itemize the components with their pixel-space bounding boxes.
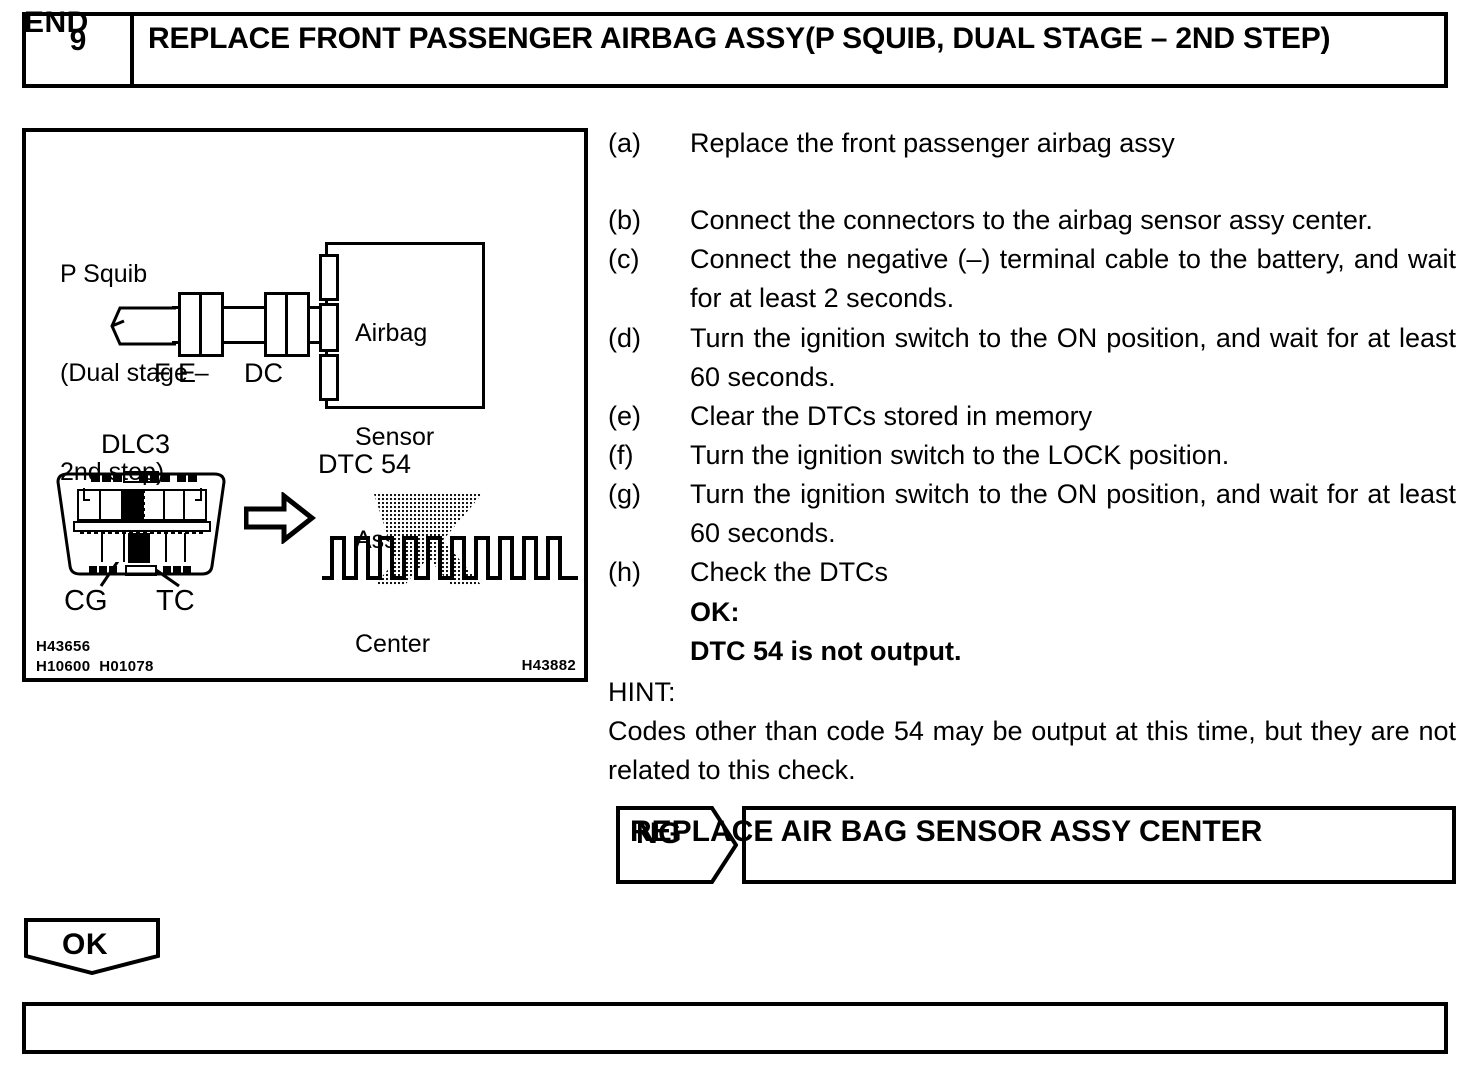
instruction-text-e: Clear the DTCs stored in memory xyxy=(690,397,1456,436)
instruction-text-c: Connect the negative (–) terminal cable … xyxy=(690,240,1456,318)
instruction-label-b: (b) xyxy=(608,201,690,240)
result-ok-condition: DTC 54 is not output. xyxy=(690,632,1456,671)
sensor-terminal-upper xyxy=(319,254,339,301)
result-ok-heading: OK: xyxy=(690,593,1456,632)
figure-code-left-2: H10600 H01078 xyxy=(36,658,154,675)
figure-code-right: H43882 xyxy=(522,657,576,674)
wire-segment xyxy=(222,306,270,309)
instruction-text-a: Replace the front passenger airbag assy xyxy=(690,124,1456,163)
hint-block: HINT: Codes other than code 54 may be ou… xyxy=(608,673,1456,790)
sensor-terminal-middle xyxy=(319,303,339,352)
instruction-label-e: (e) xyxy=(608,397,690,436)
dtc-54-waveform-icon xyxy=(322,482,578,642)
connector-fe-label: F E xyxy=(154,356,196,392)
end-block xyxy=(22,1002,1448,1054)
instruction-list: (a) Replace the front passenger airbag a… xyxy=(608,124,1456,790)
connector-dc-label: DC xyxy=(244,356,283,392)
instruction-item-b: (b) Connect the connectors to the airbag… xyxy=(608,201,1456,240)
hint-title: HINT: xyxy=(608,673,1456,712)
connector-dc-divider xyxy=(285,292,288,357)
step-title-cell: REPLACE FRONT PASSENGER AIRBAG ASSY(P SQ… xyxy=(134,16,1444,84)
instruction-text-d: Turn the ignition switch to the ON posit… xyxy=(690,319,1456,397)
instruction-item-g: (g) Turn the ignition switch to the ON p… xyxy=(608,475,1456,553)
end-label: END xyxy=(24,6,89,40)
dlc3-pin-tc-label: TC xyxy=(156,582,195,620)
instruction-spacer xyxy=(608,163,1456,201)
instruction-text-b: Connect the connectors to the airbag sen… xyxy=(690,201,1456,240)
right-arrow-icon xyxy=(244,492,316,544)
instruction-label-a: (a) xyxy=(608,124,690,163)
ok-tag-label: OK xyxy=(62,928,108,962)
figure-code-left-1: H43656 xyxy=(36,638,90,655)
instruction-text-g: Turn the ignition switch to the ON posit… xyxy=(690,475,1456,553)
ng-branch: NG REPLACE AIR BAG SENSOR ASSY CENTER xyxy=(616,806,1456,884)
instruction-item-e: (e) Clear the DTCs stored in memory xyxy=(608,397,1456,436)
dtc-54-label: DTC 54 xyxy=(318,447,411,483)
result-ok-heading-row: OK: xyxy=(608,593,1456,632)
squib-terminator-icon xyxy=(110,304,180,350)
instruction-label-c: (c) xyxy=(608,240,690,279)
step-header: 9 REPLACE FRONT PASSENGER AIRBAG ASSY(P … xyxy=(22,12,1448,88)
sensor-label-line-1: Airbag xyxy=(355,316,434,351)
instruction-item-c: (c) Connect the negative (–) terminal ca… xyxy=(608,240,1456,318)
dlc3-pin-cg-label: CG xyxy=(64,582,108,620)
instruction-label-d: (d) xyxy=(608,319,690,358)
instruction-text-h: Check the DTCs xyxy=(690,553,1456,592)
instruction-item-h: (h) Check the DTCs xyxy=(608,553,1456,592)
step-title: REPLACE FRONT PASSENGER AIRBAG ASSY(P SQ… xyxy=(148,22,1444,57)
instruction-label-h: (h) xyxy=(608,553,690,592)
ok-branch: OK xyxy=(24,918,160,975)
result-ok-condition-row: DTC 54 is not output. xyxy=(608,632,1456,671)
instruction-label-f: (f) xyxy=(608,436,690,475)
wire-segment xyxy=(222,341,270,344)
instruction-text-f: Turn the ignition switch to the LOCK pos… xyxy=(690,436,1456,475)
instruction-item-d: (d) Turn the ignition switch to the ON p… xyxy=(608,319,1456,397)
ng-action-label: REPLACE AIR BAG SENSOR ASSY CENTER xyxy=(630,815,1262,849)
instruction-label-g: (g) xyxy=(608,475,690,514)
figure-panel: P Squib (Dual stage – 2nd step) F E DC A… xyxy=(22,128,588,682)
instruction-item-f: (f) Turn the ignition switch to the LOCK… xyxy=(608,436,1456,475)
hint-body: Codes other than code 54 may be output a… xyxy=(608,712,1456,790)
dlc3-label: DLC3 xyxy=(101,427,170,463)
connector-fe-divider xyxy=(199,292,202,357)
sensor-terminal-lower xyxy=(319,354,339,401)
p-squib-caption-line-1: P Squib xyxy=(60,258,209,291)
instruction-item-a: (a) Replace the front passenger airbag a… xyxy=(608,124,1456,163)
airbag-sensor-assy-center-box: Airbag Sensor Assy Center xyxy=(325,242,485,409)
